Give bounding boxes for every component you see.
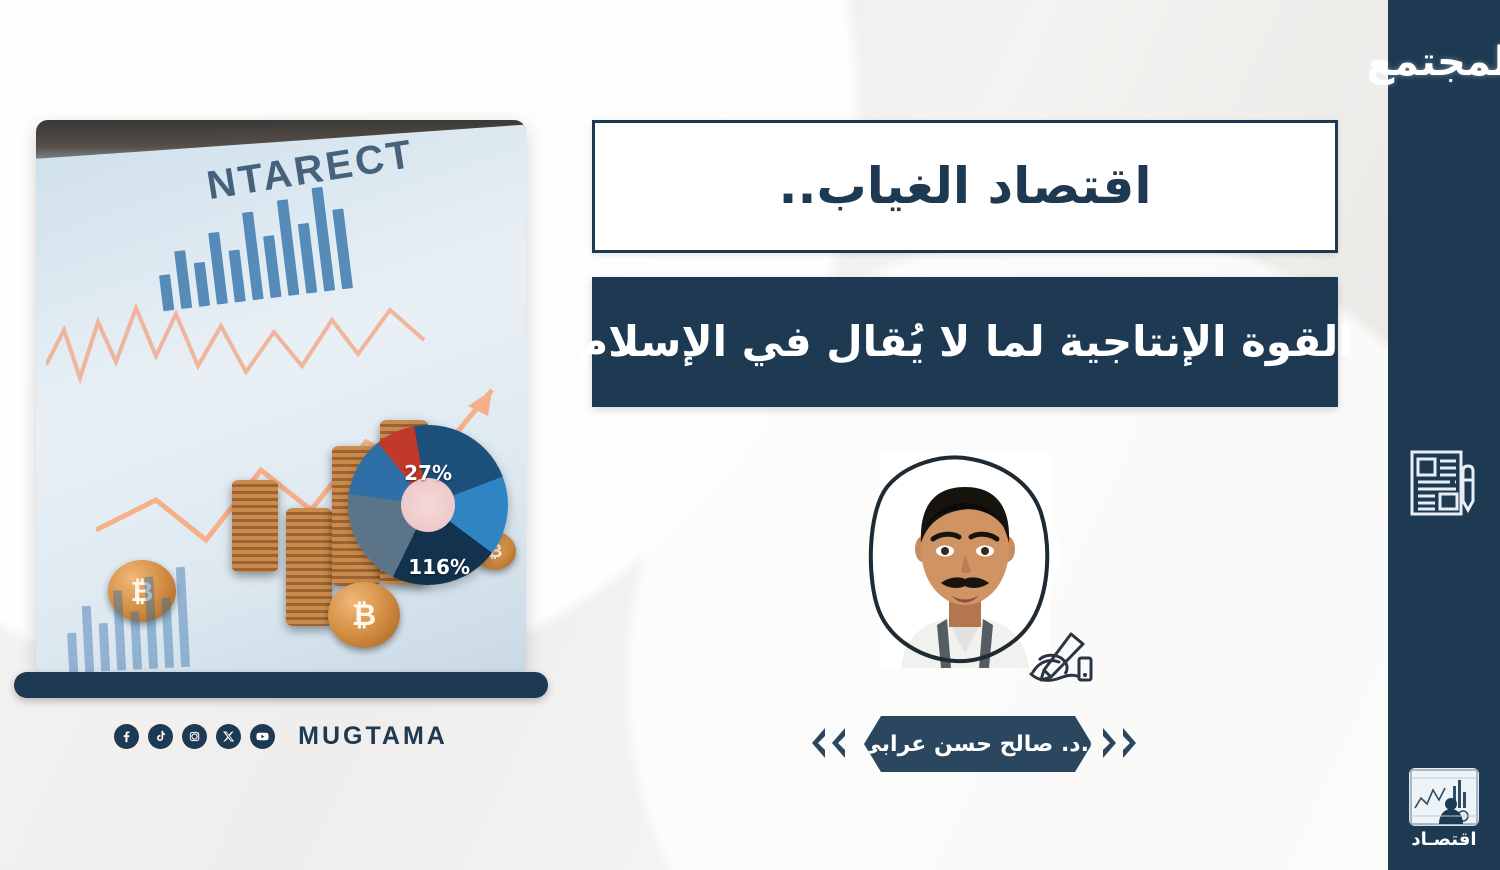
page-title: اقتصاد الغياب.. (779, 159, 1152, 214)
newspaper-pencil-icon[interactable] (1409, 448, 1481, 518)
hero-bar-chart-bottom (63, 547, 190, 673)
tiktok-icon[interactable] (148, 724, 173, 749)
instagram-icon[interactable] (182, 724, 207, 749)
chevron-right-icon (1102, 728, 1116, 758)
chevron-right-icon (1122, 728, 1136, 758)
hero-donut-label-2: 116% (408, 555, 470, 579)
hero-bottom-accent-bar (14, 672, 548, 698)
youtube-icon[interactable] (250, 724, 275, 749)
bitcoin-symbol: ₿ (352, 598, 376, 633)
hero-donut-label-1: 27% (404, 461, 452, 485)
brand-handle: MUGTAMA (298, 722, 448, 751)
category-badge[interactable]: اقتصـاد (1400, 768, 1488, 858)
facebook-icon[interactable] (114, 724, 139, 749)
headline-title-box: اقتصاد الغياب.. (592, 120, 1338, 253)
author-banner-body: أ.د. صالح حسن عرابي (864, 716, 1092, 772)
category-label: اقتصـاد (1411, 829, 1476, 850)
hero-coin-stack-2 (286, 508, 332, 626)
hero-image-container: NTARECT (36, 120, 526, 675)
mugtama-logo[interactable]: المجتمع (1388, 18, 1500, 106)
chevron-left-icon (812, 728, 826, 758)
article-card-canvas: NTARECT (0, 0, 1500, 870)
author-name-banner: أ.د. صالح حسن عرابي (812, 716, 1144, 772)
social-row: MUGTAMA (36, 722, 526, 751)
hero-image: NTARECT (36, 120, 526, 675)
mugtama-logo-text: المجتمع (1367, 39, 1500, 85)
headline-subtitle-box: القوة الإنتاجية لما لا يُقال في الإسلام (592, 277, 1338, 407)
chevron-left-icon (832, 728, 846, 758)
author-portrait (845, 435, 1090, 690)
writing-hand-pencil-icon (1025, 630, 1095, 692)
hero-bitcoin-coin-mid: ₿ (328, 582, 400, 648)
hero-coin-stack-1 (232, 480, 278, 572)
author-name: أ.د. صالح حسن عرابي (860, 732, 1097, 757)
page-subtitle: القوة الإنتاجية لما لا يُقال في الإسلام (577, 318, 1352, 366)
x-icon[interactable] (216, 724, 241, 749)
right-sidebar: المجتمع (1388, 0, 1500, 870)
economy-analyst-chart-icon (1409, 768, 1479, 826)
